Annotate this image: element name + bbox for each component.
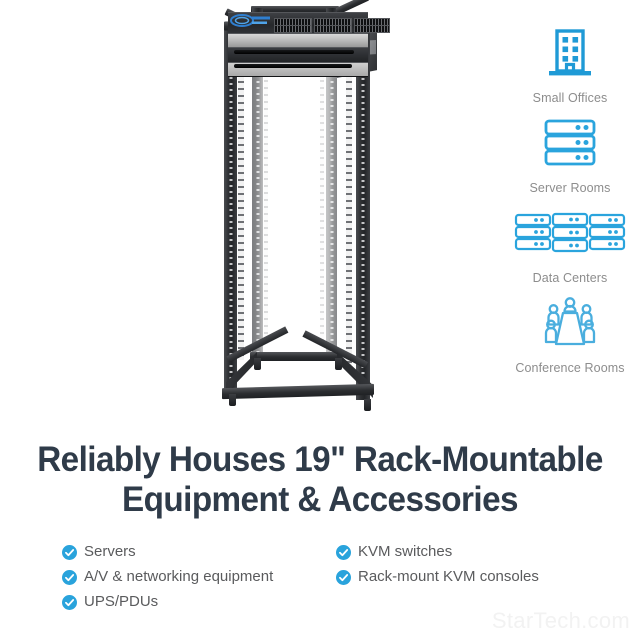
check-circle-icon [62,570,77,585]
check-circle-icon [62,545,77,560]
feature-label: UPS/PDUs [84,592,158,612]
headline: Reliably Houses 19" Rack-Mountable Equip… [16,440,624,520]
use-case-icon-column: Small Offices [498,22,640,382]
cable-management-bar [234,64,352,68]
cable-management-bar [234,50,354,54]
switch-port-block [314,25,352,33]
switch-port-block [354,25,390,33]
rack-bottom-front-beam [222,384,374,399]
feature-list-right-column: KVM switches Rack-mount KVM consoles [336,542,539,592]
use-case-item-small-offices: Small Offices [498,22,640,106]
use-case-label: Server Rooms [498,181,640,196]
rack-leveling-foot [254,358,261,370]
feature-label: Rack-mount KVM consoles [358,567,539,587]
rack-bottom-rear-beam [250,352,340,361]
feature-label: Servers [84,542,136,562]
rack-leveling-foot [229,394,236,406]
feature-label: KVM switches [358,542,452,562]
use-case-label: Conference Rooms [498,361,640,376]
office-building-icon [498,22,640,84]
headline-line-2: Equipment & Accessories [16,480,624,520]
use-case-item-data-centers: Data Centers [498,202,640,286]
brand-watermark: StarTech.com [492,608,630,634]
feature-label: A/V & networking equipment [84,567,273,587]
rack-leveling-foot [364,399,371,411]
data-center-grid-icon [498,202,640,264]
rack-rail-front-left [238,60,244,360]
check-circle-icon [336,545,351,560]
list-item: UPS/PDUs [62,592,273,612]
use-case-item-server-rooms: Server Rooms [498,112,640,196]
use-case-label: Data Centers [498,271,640,286]
switch-port-block [274,25,312,33]
list-item: Servers [62,542,273,562]
rack-mounted-blank-panel [228,33,368,48]
headline-line-1: Reliably Houses 19" Rack-Mountable [37,440,603,479]
list-item: Rack-mount KVM consoles [336,567,539,587]
conference-table-people-icon [498,292,640,354]
check-circle-icon [336,570,351,585]
check-circle-icon [62,595,77,610]
use-case-label: Small Offices [498,91,640,106]
rack-post-front-right [356,22,370,400]
rack-leveling-foot [335,358,342,370]
rack-post-front-left [224,22,237,394]
equipment-brand-logo-icon [230,13,272,30]
use-case-item-conference-rooms: Conference Rooms [498,292,640,376]
product-marketing-image: Small Offices [0,0,640,640]
feature-list-left-column: Servers A/V & networking equipment UPS/P… [62,542,273,617]
rack-interior-shading [244,40,348,370]
list-item: KVM switches [336,542,539,562]
hero-section: Small Offices [0,0,640,432]
rack-rail-front-right [346,60,352,365]
list-item: A/V & networking equipment [62,567,273,587]
server-stack-icon [498,112,640,174]
server-rack-photo [196,0,416,425]
